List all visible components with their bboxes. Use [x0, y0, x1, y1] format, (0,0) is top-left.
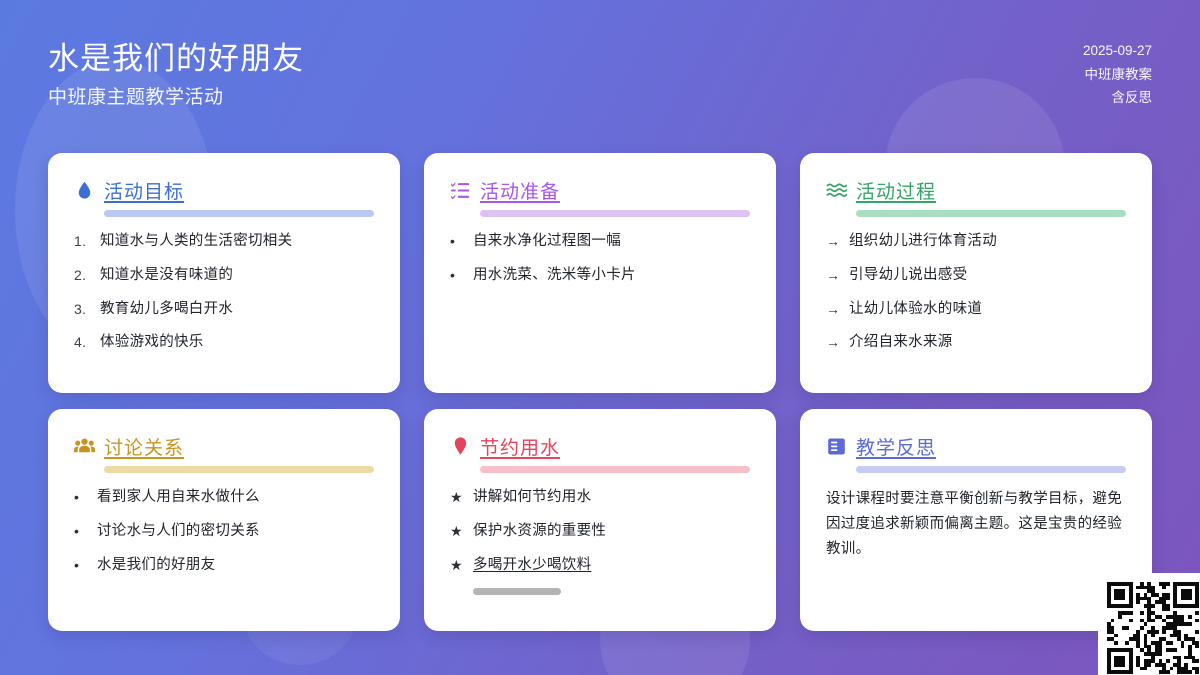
qr-code-container[interactable] — [1098, 573, 1200, 675]
slide-header: 水是我们的好朋友 中班康主题教学活动 2025-09-27 中班康教案 含反思 — [0, 0, 1200, 150]
list-item-text: 组织幼儿进行体育活动 — [849, 231, 1126, 253]
card-activity-goals: 活动目标1.知道水与人类的生活密切相关2.知道水是没有味道的3.教育幼儿多喝白开… — [48, 153, 400, 393]
list-item: 4.体验游戏的快乐 — [74, 332, 374, 354]
card-title: 教学反思 — [856, 433, 936, 460]
header-meta-category: 中班康教案 — [1085, 65, 1153, 86]
list-item-text: 用水洗菜、洗米等小卡片 — [473, 265, 750, 287]
card-header: 活动目标 — [74, 177, 374, 204]
list-item-marker: • — [74, 521, 89, 542]
list-item-text: 知道水是没有味道的 — [100, 265, 374, 287]
card-header: 活动准备 — [450, 177, 750, 204]
header-date: 2025-09-27 — [1083, 41, 1152, 62]
list-item-text: 看到家人用自来水做什么 — [97, 487, 374, 509]
list-item-marker: • — [74, 555, 89, 576]
list-item: 2.知道水是没有味道的 — [74, 265, 374, 287]
list-item: ★多喝开水少喝饮料 — [450, 555, 750, 577]
list-item-marker: 3. — [74, 299, 92, 320]
list-item-marker: 1. — [74, 231, 92, 252]
header-title-block: 水是我们的好朋友 中班康主题教学活动 — [48, 41, 304, 110]
card-title: 讨论关系 — [104, 433, 184, 460]
list-item-text: 介绍自来水来源 — [849, 332, 1126, 354]
list-item-marker: → — [826, 332, 841, 353]
card-title-underline-bar — [856, 210, 1126, 217]
card-header: 活动过程 — [826, 177, 1126, 204]
water-waves-icon — [826, 180, 847, 201]
list-item-text: 引导幼儿说出感受 — [849, 265, 1126, 287]
list-item-marker: → — [826, 265, 841, 286]
list-item-text: 讲解如何节约用水 — [473, 487, 750, 509]
list-item-marker: → — [826, 231, 841, 252]
list-item: 1.知道水与人类的生活密切相关 — [74, 231, 374, 253]
card-list: →组织幼儿进行体育活动→引导幼儿说出感受→让幼儿体验水的味道→介绍自来水来源 — [826, 231, 1126, 354]
header-meta-note: 含反思 — [1112, 88, 1153, 109]
card-header: 讨论关系 — [74, 433, 374, 460]
list-item-marker: → — [826, 299, 841, 320]
card-activity-process: 活动过程→组织幼儿进行体育活动→引导幼儿说出感受→让幼儿体验水的味道→介绍自来水… — [800, 153, 1152, 393]
list-item-text: 多喝开水少喝饮料 — [473, 555, 750, 577]
list-item: →引导幼儿说出感受 — [826, 265, 1126, 287]
card-list: •看到家人用自来水做什么•讨论水与人们的密切关系•水是我们的好朋友 — [74, 487, 374, 576]
list-item-text: 保护水资源的重要性 — [473, 521, 750, 543]
card-discussion-relations: 讨论关系•看到家人用自来水做什么•讨论水与人们的密切关系•水是我们的好朋友 — [48, 409, 400, 631]
list-item: •看到家人用自来水做什么 — [74, 487, 374, 509]
list-item-marker: ★ — [450, 521, 465, 542]
list-item-marker: 4. — [74, 332, 92, 353]
list-item-marker: 2. — [74, 265, 92, 286]
card-activity-preparation: 活动准备•自来水净化过程图一幅•用水洗菜、洗米等小卡片 — [424, 153, 776, 393]
list-item-marker: • — [74, 487, 89, 508]
document-icon — [826, 436, 847, 457]
page-subtitle: 中班康主题教学活动 — [48, 82, 304, 109]
card-list: ★讲解如何节约用水★保护水资源的重要性★多喝开水少喝饮料 — [450, 487, 750, 595]
list-item: •水是我们的好朋友 — [74, 555, 374, 577]
card-title: 活动准备 — [480, 177, 560, 204]
list-item-marker: • — [450, 231, 465, 252]
checklist-icon — [450, 180, 471, 201]
list-item-highlight-bar — [473, 588, 561, 595]
list-item: →介绍自来水来源 — [826, 332, 1126, 354]
card-water-saving: 节约用水★讲解如何节约用水★保护水资源的重要性★多喝开水少喝饮料 — [424, 409, 776, 631]
map-pin-icon — [450, 436, 471, 457]
list-item: →让幼儿体验水的味道 — [826, 299, 1126, 321]
card-title: 节约用水 — [480, 433, 560, 460]
water-drop-icon — [74, 180, 95, 201]
list-item: 3.教育幼儿多喝白开水 — [74, 299, 374, 321]
list-item: →组织幼儿进行体育活动 — [826, 231, 1126, 253]
card-header: 教学反思 — [826, 433, 1126, 460]
list-item-text: 体验游戏的快乐 — [100, 332, 374, 354]
list-item-text: 知道水与人类的生活密切相关 — [100, 231, 374, 253]
card-title-underline-bar — [104, 210, 374, 217]
list-item: •讨论水与人们的密切关系 — [74, 521, 374, 543]
list-item-text: 自来水净化过程图一幅 — [473, 231, 750, 253]
cards-grid: 活动目标1.知道水与人类的生活密切相关2.知道水是没有味道的3.教育幼儿多喝白开… — [48, 153, 1152, 631]
list-item: ★保护水资源的重要性 — [450, 521, 750, 543]
list-item-text: 讨论水与人们的密切关系 — [97, 521, 374, 543]
card-title-underline-bar — [104, 466, 374, 473]
list-item-marker: ★ — [450, 487, 465, 508]
list-item: ★讲解如何节约用水 — [450, 487, 750, 509]
list-item-text: 让幼儿体验水的味道 — [849, 299, 1126, 321]
card-title-underline-bar — [480, 210, 750, 217]
list-item-marker: • — [450, 265, 465, 286]
card-list: 1.知道水与人类的生活密切相关2.知道水是没有味道的3.教育幼儿多喝白开水4.体… — [74, 231, 374, 354]
card-title: 活动目标 — [104, 177, 184, 204]
page-title: 水是我们的好朋友 — [48, 41, 304, 77]
slide-canvas: 水是我们的好朋友 中班康主题教学活动 2025-09-27 中班康教案 含反思 … — [0, 0, 1200, 675]
list-item-text: 水是我们的好朋友 — [97, 555, 374, 577]
qr-code — [1107, 582, 1199, 674]
list-item: •用水洗菜、洗米等小卡片 — [450, 265, 750, 287]
users-group-icon — [74, 436, 95, 457]
card-header: 节约用水 — [450, 433, 750, 460]
card-title-underline-bar — [856, 466, 1126, 473]
list-item-marker: ★ — [450, 555, 465, 576]
card-title-underline-bar — [480, 466, 750, 473]
card-paragraph: 设计课程时要注意平衡创新与教学目标，避免因过度追求新颖而偏离主题。这是宝贵的经验… — [826, 487, 1126, 562]
list-item: •自来水净化过程图一幅 — [450, 231, 750, 253]
header-meta-block: 2025-09-27 中班康教案 含反思 — [1083, 41, 1152, 110]
list-item-text: 教育幼儿多喝白开水 — [100, 299, 374, 321]
card-list: •自来水净化过程图一幅•用水洗菜、洗米等小卡片 — [450, 231, 750, 287]
card-title: 活动过程 — [856, 177, 936, 204]
